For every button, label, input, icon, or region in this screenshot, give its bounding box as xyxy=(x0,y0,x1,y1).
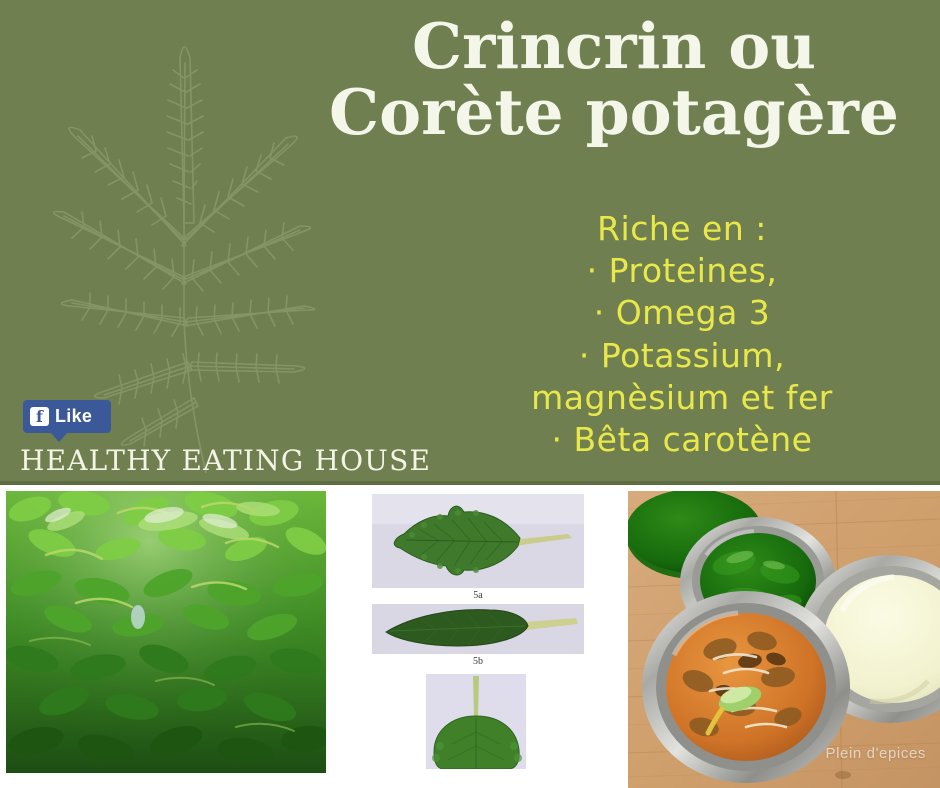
title-line-2: Corète potagère xyxy=(314,82,914,144)
brand-name: HEALTHY EATING HOUSE xyxy=(20,444,431,477)
poster-header: Crincrin ou Corète potagère Riche en : ·… xyxy=(0,0,940,485)
photo-watermark: Plein d'epices xyxy=(826,745,927,762)
nutrient-heading: Riche en : xyxy=(442,208,922,250)
prepared-dishes-photo: Plein d'epices xyxy=(628,491,940,788)
facebook-f-icon: f xyxy=(30,407,49,426)
poster-title: Crincrin ou Corète potagère xyxy=(314,16,914,143)
specimen-label-5b: 5b xyxy=(372,656,584,667)
nutrient-item: · Proteines, xyxy=(442,250,922,292)
chopped-green-leaves-photo xyxy=(6,491,326,773)
leaf-specimen-plate: 5a 5b xyxy=(372,494,584,776)
facebook-like-label: Like xyxy=(55,406,92,427)
specimen-image-closeup xyxy=(426,674,526,769)
nutrient-item: · Potassium, xyxy=(442,335,922,377)
nutrient-item: magnèsium et fer xyxy=(442,377,922,419)
nutrient-item: · Omega 3 xyxy=(442,292,922,334)
nutrient-list: Riche en : · Proteines, · Omega 3 · Pota… xyxy=(442,208,922,461)
poster-root: Crincrin ou Corète potagère Riche en : ·… xyxy=(0,0,940,788)
header-divider xyxy=(0,481,940,485)
title-line-1: Crincrin ou xyxy=(314,16,914,78)
nutrient-item: · Bêta carotène xyxy=(442,419,922,461)
specimen-label-5a: 5a xyxy=(372,590,584,601)
specimen-image-5a xyxy=(372,494,584,588)
specimen-image-5b xyxy=(372,604,584,654)
facebook-like-button[interactable]: f Like xyxy=(23,400,111,433)
speech-bubble-tail xyxy=(50,432,68,442)
